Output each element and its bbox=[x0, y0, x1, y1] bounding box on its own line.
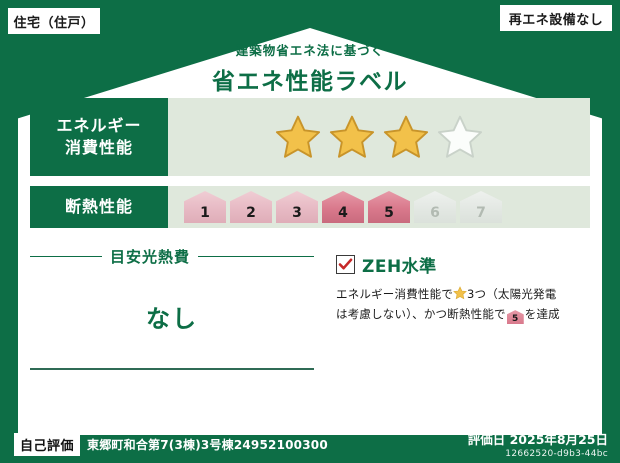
insulation-badge-4: 4 bbox=[322, 191, 364, 223]
energy-performance-label: 住宅（住戸） 再エネ設備なし 建築物省エネ法に基づく 省エネ性能ラベル エネルギ… bbox=[0, 0, 620, 463]
lower-section: 目安光熱費 なし ZEH水準 エネルギー消費性能で bbox=[30, 242, 590, 370]
footer-right: 評価日 2025年8月25日 12662520-d9b3-44bc bbox=[468, 429, 608, 459]
energy-consumption-row: エネルギー 消費性能 bbox=[30, 98, 590, 176]
zeh-desc-line1-b: 3つ（太陽光発電 bbox=[467, 287, 556, 301]
renewable-equipment-tag: 再エネ設備なし bbox=[500, 5, 612, 31]
utility-cost-section: 目安光熱費 なし bbox=[30, 242, 322, 370]
insulation-badge-2: 2 bbox=[230, 191, 272, 223]
zeh-desc-line1-a: エネルギー消費性能で bbox=[336, 287, 453, 301]
title-block: 建築物省エネ法に基づく 省エネ性能ラベル bbox=[0, 40, 620, 96]
insulation-badge-5: 5 bbox=[368, 191, 410, 223]
evaluation-date-label: 評価日 bbox=[468, 432, 506, 447]
zeh-desc-line2-b: を達成 bbox=[525, 307, 560, 321]
insulation-badge-1: 1 bbox=[184, 191, 226, 223]
inline-star-icon bbox=[453, 286, 467, 300]
inline-insulation-badge: 5 bbox=[507, 310, 524, 324]
footer-left: 自己評価 東郷町和合第7(3棟)3号棟24952100300 bbox=[14, 433, 328, 456]
title-subtitle: 建築物省エネ法に基づく bbox=[0, 40, 620, 59]
star-filled-icon bbox=[383, 114, 429, 160]
zeh-section: ZEH水準 エネルギー消費性能で 3つ（太陽光発電 は考慮しない）、かつ断熱性能… bbox=[322, 242, 590, 370]
check-icon bbox=[338, 257, 353, 272]
property-address: 東郷町和合第7(3棟)3号棟24952100300 bbox=[87, 436, 328, 453]
zeh-description: エネルギー消費性能で 3つ（太陽光発電 は考慮しない）、かつ断熱性能で5を達成 bbox=[336, 284, 590, 324]
label-footer: 自己評価 東郷町和合第7(3棟)3号棟24952100300 評価日 2025年… bbox=[0, 425, 620, 463]
label-id: 12662520-d9b3-44bc bbox=[468, 449, 608, 459]
evaluation-date-value: 2025年8月25日 bbox=[510, 432, 608, 447]
self-evaluation-badge: 自己評価 bbox=[14, 433, 80, 456]
utility-cost-bottom-rule bbox=[30, 368, 314, 370]
star-empty-icon bbox=[437, 114, 483, 160]
insulation-badge-3: 3 bbox=[276, 191, 318, 223]
energy-label-line2: 消費性能 bbox=[65, 137, 133, 159]
star-filled-icon bbox=[329, 114, 375, 160]
utility-cost-heading: 目安光熱費 bbox=[30, 246, 314, 267]
energy-consumption-label: エネルギー 消費性能 bbox=[30, 98, 168, 176]
energy-label-line1: エネルギー bbox=[56, 115, 141, 137]
insulation-badge-7: 7 bbox=[460, 191, 502, 223]
page-title: 省エネ性能ラベル bbox=[0, 62, 620, 96]
zeh-header: ZEH水準 bbox=[336, 252, 590, 277]
utility-cost-heading-text: 目安光熱費 bbox=[110, 246, 190, 267]
insulation-performance-label: 断熱性能 bbox=[30, 186, 168, 228]
insulation-label-text: 断熱性能 bbox=[65, 196, 133, 218]
zeh-title: ZEH水準 bbox=[362, 252, 437, 277]
label-content: エネルギー 消費性能 断熱性能 1234567 目安光熱費 なし bbox=[30, 98, 590, 370]
utility-cost-value: なし bbox=[30, 267, 314, 368]
building-type-tag: 住宅（住戸） bbox=[8, 8, 100, 34]
zeh-checkbox[interactable] bbox=[336, 255, 355, 274]
star-filled-icon bbox=[275, 114, 321, 160]
insulation-badge-6: 6 bbox=[414, 191, 456, 223]
insulation-performance-value: 1234567 bbox=[168, 186, 590, 228]
insulation-performance-row: 断熱性能 1234567 bbox=[30, 186, 590, 228]
evaluation-date: 評価日 2025年8月25日 bbox=[468, 429, 608, 448]
zeh-desc-line2-a: は考慮しない）、かつ断熱性能で bbox=[336, 307, 506, 321]
insulation-badge-scale: 1234567 bbox=[184, 191, 502, 223]
energy-consumption-value bbox=[168, 98, 590, 176]
star-rating bbox=[275, 114, 483, 160]
